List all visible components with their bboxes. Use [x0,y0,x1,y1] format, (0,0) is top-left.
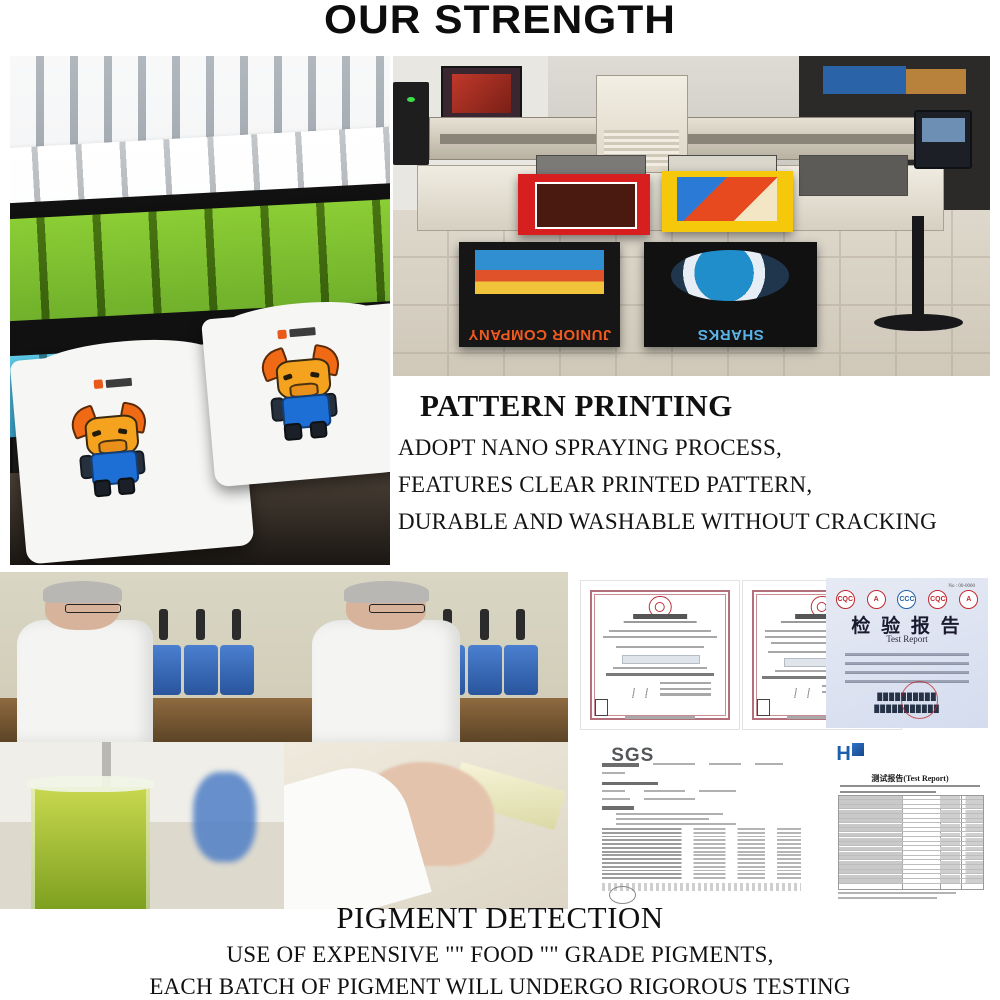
sgs-table-row [602,828,802,830]
report-field-row-1 [845,653,968,656]
cert-standard-box [622,655,700,664]
cert-title-bar [633,614,687,619]
pattern-printing-text-block: PATTERN PRINTING ADOPT NANO SPRAYING PRO… [398,388,994,535]
lab-coat-2 [312,620,460,743]
cert-scope-line [606,673,713,676]
sgs-col-3 [699,790,736,792]
pigment-detection-line-1: USE OF EXPENSIVE "" FOOD "" GRADE PIGMEN… [0,942,1000,968]
mark-cqc-icon: CQC [836,590,855,609]
pattern-printing-line-1: ADOPT NANO SPRAYING PROCESS, [398,435,994,461]
cert-line-1 [609,630,710,632]
junior-company-label: JUNIOR COMPANY [459,326,620,343]
h-report-note-1 [838,892,956,894]
h-logo: H [836,743,863,766]
bull-mascot-icon [68,399,153,497]
h-logo-square-icon [852,743,864,756]
sgs-table-row [602,836,802,838]
mark-a2-icon: A [959,590,978,609]
control-tower [393,82,429,165]
lab-photo-chemist-pipetting [0,572,284,742]
sgs-results-table [602,828,802,891]
brand-wordmark [105,378,132,388]
sgs-table-row [602,870,802,872]
green-pigment-beaker [31,787,150,909]
sgs-table-row [602,873,802,875]
h-table-row [839,838,983,842]
sgs-row-2 [644,798,695,800]
sgs-section-results [602,806,634,809]
chemist-hair [43,581,123,603]
screen-printing-carousel-photo [10,56,390,565]
sgs-table-row [602,832,802,834]
inspection-report-title-en: Test Report [826,634,988,644]
h-table-row [839,814,983,818]
sgs-header-value-4 [602,772,625,774]
pigment-detection-text-block: PIGMENT DETECTION USE OF EXPENSIVE "" FO… [0,900,1000,1000]
cert-detail-1 [660,682,711,684]
cnas-accreditation-icon [595,699,608,715]
bull-leg-left-2 [284,422,303,440]
chemist-glasses-icon [65,604,121,613]
report-code: No : 00-0000 [948,584,975,589]
sharks-label: SHARKS [644,326,817,343]
lab-photo-grid [0,572,568,909]
printer-control-panel[interactable] [914,110,972,168]
lab-coat [17,620,153,743]
h-table-row [839,819,983,823]
shelf-box-blue [823,66,907,95]
h-report-subheader [840,785,981,788]
sgs-header-value-2 [709,763,741,765]
report-red-stamp-icon [901,681,939,719]
cert-footer-line [625,716,695,718]
mixer-stem-c [232,609,241,640]
mixer-stem-c2 [516,609,525,640]
bull-mark-icon [93,380,103,390]
printed-shirt-red [518,174,649,235]
h-table-row [839,824,983,828]
h-report-subheader-2 [840,791,936,794]
sgs-note-3 [616,823,737,825]
h-table-row [839,856,983,860]
mixer-motor-b [184,645,218,694]
h-table-row [839,810,983,814]
pattern-printing-line-2: FEATURES CLEAR PRINTED PATTERN, [398,472,994,498]
page-title: OUR STRENGTH [0,0,1000,43]
certification-marks-row: CQC A CCC CQC A [836,590,979,609]
carousel-scene [10,56,390,565]
sgs-test-report-document: SGS [588,740,820,906]
sgs-note-2 [616,818,709,820]
iso-certificate-chinese [580,580,740,730]
bull-mascot-icon-2 [259,341,346,438]
sgs-table-row [602,843,802,845]
h-report-results-table [838,795,984,890]
junior-company-artwork [475,250,604,294]
sgs-table-row [602,839,802,841]
h-test-report-document: H 测试报告(Test Report) [830,740,990,906]
sgs-section-sample [602,782,658,785]
sgs-note-1 [616,813,723,815]
lab-photo-green-beaker [0,742,284,909]
h-table-row [839,870,983,874]
mixer-motor-c2 [504,645,538,694]
brand-wordmark-2 [289,327,316,337]
floor-stand [912,216,924,325]
bull-mark-icon-2 [277,329,287,339]
h-table-row [839,828,983,832]
h-table-row [839,796,983,800]
h-table-row [839,875,983,879]
sgs-col-1 [602,790,625,792]
h-table-row [839,879,983,883]
sharks-artwork [671,250,789,301]
pigment-detection-heading: PIGMENT DETECTION [0,900,1000,936]
bull-leg-left [92,480,111,498]
cert-subtitle-bar [624,621,697,624]
bull-leg-right-2 [309,420,328,438]
mark-a-icon: A [867,590,886,609]
mixer-motor-b2 [468,645,502,694]
printed-tee-back [201,302,390,487]
cert-line-4 [613,667,708,669]
shelf-box-brown [906,69,966,95]
sgs-header-value-1 [653,763,695,765]
inspection-report-document: No : 00-0000 CQC A CCC CQC A 检 验 报 告 Tes… [826,578,988,728]
printed-shirt-junior-company: JUNIOR COMPANY [459,242,620,348]
sgs-row-1 [602,798,630,800]
cert-line-3 [616,646,704,648]
pattern-printing-heading: PATTERN PRINTING [398,388,994,424]
lab-photo-hand-test-strip [284,742,568,909]
report-field-row-3 [845,671,968,674]
pattern-printing-line-3: DURABLE AND WASHABLE WITHOUT CRACKING [398,509,994,535]
h-table-row [839,833,983,837]
h-table-row [839,852,983,856]
sgs-col-2 [644,790,686,792]
h-table-row [839,847,983,851]
h-table-row [839,865,983,869]
printed-shirt-yellow [662,171,793,232]
h-table-row [839,861,983,865]
sgs-table-row [602,866,802,868]
mixer-stem-b2 [480,609,489,640]
chemist-hair-2 [344,581,429,603]
sgs-header-label [602,763,639,766]
sgs-table-row [602,858,802,860]
sgs-table-row [602,847,802,849]
platen-right [799,155,908,195]
cert-signature [628,688,685,698]
mark-cqc2-icon: CQC [928,590,947,609]
chemist-glasses-icon-2 [369,604,425,613]
h-table-row [839,805,983,809]
beaker-rim [27,776,153,792]
sgs-table-row [602,877,802,879]
mixer-motor-c [220,645,254,694]
bull-eye-right-2 [309,371,318,378]
printer-scene: JUNIOR COMPANY SHARKS [393,56,990,376]
tee-brand-logo [93,377,132,389]
sgs-header-value-3 [755,763,783,765]
dtg-printer-photo: JUNIOR COMPANY SHARKS [393,56,990,376]
mark-ccc-icon: CCC [897,590,916,609]
sgs-table-row [602,851,802,853]
lab-mixers [142,609,273,694]
report-field-row-2 [845,662,968,665]
cnas-accreditation-icon-2 [757,699,770,715]
mixer-stem-a [159,609,168,640]
h-table-row [839,842,983,846]
tee-brand-logo-2 [277,326,316,338]
sgs-table-row [602,862,802,864]
printer-monitor [441,66,523,121]
mixer-stem-b [196,609,205,640]
h-report-title: 测试报告(Test Report) [830,773,990,784]
sgs-table-row [602,854,802,856]
cert-line-2 [603,636,717,638]
bull-leg-right [117,477,136,495]
h-table-row [839,800,983,804]
lab-photo-chemist-closeup [284,572,568,742]
pigment-detection-line-2: EACH BATCH OF PIGMENT WILL UNDERGO RIGOR… [0,974,1000,1000]
printed-shirt-sharks: SHARKS [644,242,817,348]
report-field-row-4 [845,680,968,683]
